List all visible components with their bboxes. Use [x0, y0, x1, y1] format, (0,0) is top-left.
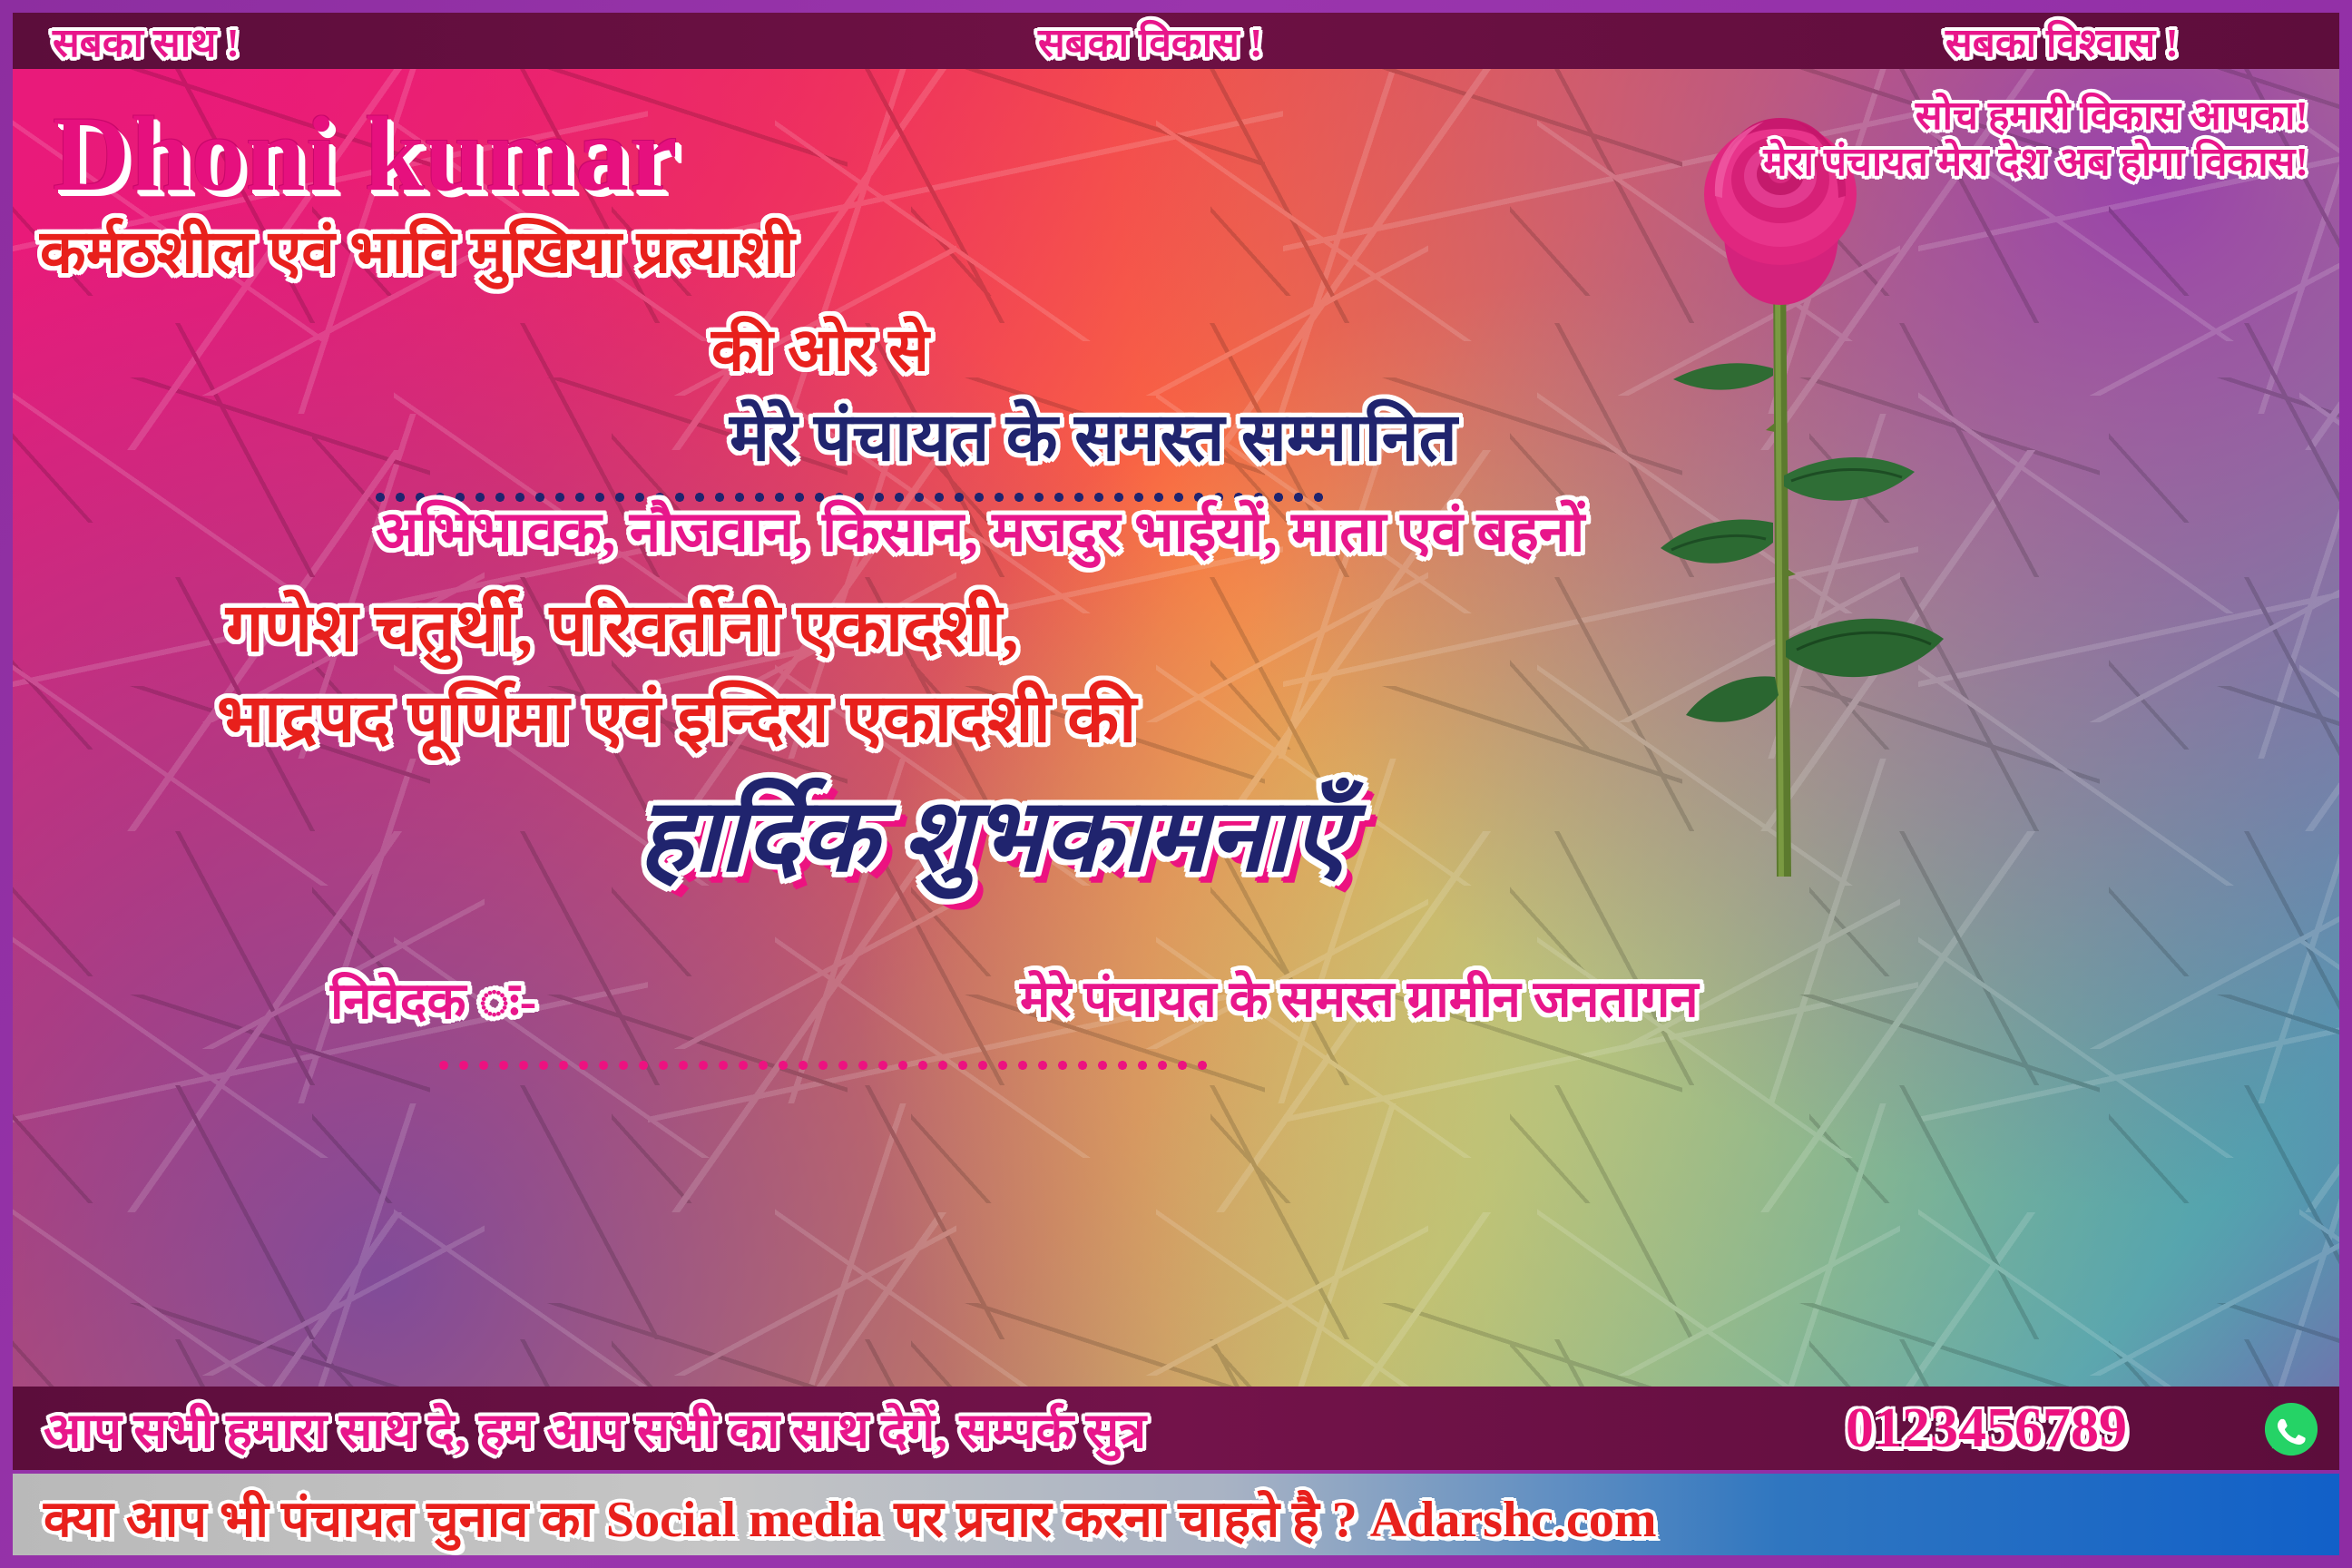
contact-phone-number[interactable]: 0123456789 [1846, 1396, 2127, 1461]
greeting-headline: हार्दिक शुभकामनाएँ [639, 786, 1347, 887]
slogan-sabka-saath: सबका साथ ! [53, 14, 240, 68]
festival-line-1: गणेश चतुर्थी, परिवर्तीनी एकादशी, [226, 595, 1019, 662]
addressee-line-1: मेरे पंचायत के समस्त सम्मानित [730, 405, 1457, 472]
poster-body: Dhoni kumar सोच हमारी विकास आपका! मेरा प… [13, 69, 2339, 1387]
festival-line-2: भाद्रपद पूर्णिमा एवं इन्दिरा एकादशी की [217, 686, 1136, 753]
top-slogan-strip: सबका साथ ! सबका विकास ! सबका विश्वास ! [13, 13, 2339, 69]
sender-label: निवेदक ः- [330, 976, 536, 1027]
contact-message: आप सभी हमारा साथ दे, हम आप सभी का साथ दे… [44, 1395, 1146, 1462]
sender-value: मेरे पंचायत के समस्त ग्रामीन जनतागन [1020, 975, 1699, 1025]
rose-flower-icon [1637, 96, 1945, 895]
candidate-name: Dhoni kumar [53, 93, 679, 216]
promo-text: क्या आप भी पंचायत चुनाव का Social media … [44, 1483, 1656, 1552]
corner-slogan-line-1: सोच हमारी विकास आपका! [1763, 93, 2308, 139]
dotted-rule-pink [439, 1060, 1210, 1071]
corner-slogan-line-2: मेरा पंचायत मेरा देश अब होगा विकास! [1763, 139, 2308, 185]
whatsapp-icon[interactable] [2263, 1401, 2319, 1457]
contact-bar: आप सभी हमारा साथ दे, हम आप सभी का साथ दे… [13, 1387, 2339, 1470]
promo-bar[interactable]: क्या आप भी पंचायत चुनाव का Social media … [13, 1474, 2339, 1555]
candidate-designation: कर्मठशील एवं भावि मुखिया प्रत्याशी [40, 223, 795, 283]
slogan-sabka-vikas: सबका विकास ! [1038, 14, 1263, 68]
slogan-sabka-vishwas: सबका विश्वास ! [1945, 14, 2179, 68]
candidate-from-label: की ओर से [711, 321, 929, 381]
addressee-line-2: अभिभावक, नौजवान, किसान, मजदुर भाईयों, मा… [376, 505, 1584, 561]
corner-slogan-block: सोच हमारी विकास आपका! मेरा पंचायत मेरा द… [1763, 93, 2308, 185]
poster-canvas: सबका साथ ! सबका विकास ! सबका विश्वास ! D… [0, 0, 2352, 1568]
